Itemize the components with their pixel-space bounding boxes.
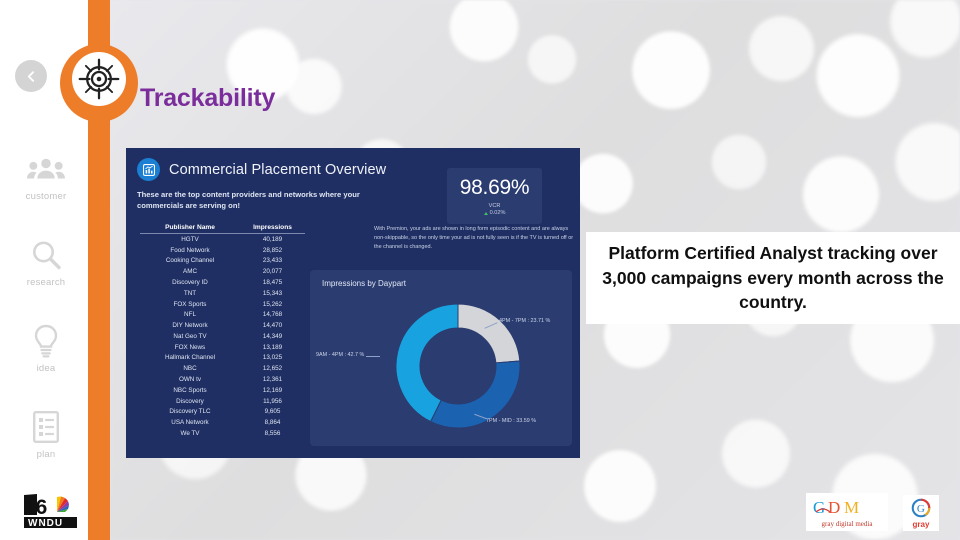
table-row: We TV8,556 — [140, 428, 305, 439]
bar-chart-icon — [137, 158, 160, 181]
column-header-impressions: Impressions — [240, 224, 305, 231]
cell-publisher: HGTV — [140, 236, 240, 243]
table-row: AMC20,077 — [140, 266, 305, 277]
cell-publisher: Nat Geo TV — [140, 333, 240, 340]
table-row: DIY Network14,470 — [140, 320, 305, 331]
page-title: Trackability — [140, 84, 275, 113]
gdm-tagline: gray digital media — [822, 520, 873, 528]
chart-label-4pm-7pm: 4PM - 7PM : 23.71 % — [499, 318, 550, 324]
brand-target-badge[interactable] — [72, 52, 126, 106]
dashboard-panel: Commercial Placement Overview These are … — [126, 148, 580, 458]
kpi-delta-value: 0.02% — [490, 210, 506, 216]
cell-publisher: DIY Network — [140, 322, 240, 329]
station-logo: 16 WNDU — [22, 492, 84, 530]
cell-publisher: Discovery TLC — [140, 408, 240, 415]
cell-publisher: USA Network — [140, 419, 240, 426]
table-row: TNT15,343 — [140, 288, 305, 299]
magnifier-icon — [30, 236, 62, 274]
table-row: NFL14,768 — [140, 309, 305, 320]
table-body: HGTV40,189Food Network28,852Cooking Chan… — [140, 234, 305, 439]
sidebar-item-plan[interactable]: plan — [0, 398, 92, 470]
donut-chart-svg — [388, 296, 528, 436]
table-row: Cooking Channel23,433 — [140, 256, 305, 267]
cell-impressions: 15,343 — [240, 290, 305, 297]
table-row: Food Network28,852 — [140, 245, 305, 256]
table-row: Discovery11,956 — [140, 396, 305, 407]
sidebar-items: customer research idea — [0, 140, 92, 484]
triangle-up-icon — [484, 212, 488, 215]
cell-publisher: Hallmark Channel — [140, 354, 240, 361]
donut-chart — [388, 296, 528, 436]
cell-impressions: 12,652 — [240, 365, 305, 372]
cell-publisher: TNT — [140, 290, 240, 297]
headline-callout: Platform Certified Analyst tracking over… — [586, 232, 960, 324]
sidebar-item-customer[interactable]: customer — [0, 140, 92, 212]
kpi-delta: 0.02% — [484, 210, 506, 216]
svg-text:D: D — [828, 498, 840, 517]
sidebar-item-idea[interactable]: idea — [0, 312, 92, 384]
table-row: Nat Geo TV14,349 — [140, 331, 305, 342]
cell-impressions: 11,956 — [240, 398, 305, 405]
cell-impressions: 40,189 — [240, 236, 305, 243]
sidebar-item-label: plan — [37, 449, 56, 460]
table-row: NBC Sports12,169 — [140, 385, 305, 396]
chart-title: Impressions by Daypart — [322, 279, 406, 288]
cell-impressions: 18,475 — [240, 279, 305, 286]
leader-line — [366, 356, 380, 357]
cell-impressions: 28,852 — [240, 247, 305, 254]
cell-impressions: 20,077 — [240, 268, 305, 275]
dashboard-title: Commercial Placement Overview — [169, 162, 386, 178]
cell-impressions: 13,189 — [240, 344, 305, 351]
checklist-icon — [32, 408, 60, 446]
svg-text:16: 16 — [24, 496, 47, 519]
cell-impressions: 8,556 — [240, 430, 305, 437]
dashboard-subtitle: These are the top content providers and … — [137, 189, 382, 212]
gray-logo: G gray — [903, 495, 939, 531]
premion-note: With Premion, your ads are shown in long… — [374, 225, 574, 252]
cell-publisher: AMC — [140, 268, 240, 275]
table-row: FOX Sports15,262 — [140, 299, 305, 310]
chevron-left-icon — [25, 70, 38, 83]
table-row: Discovery ID18,475 — [140, 277, 305, 288]
cell-publisher: We TV — [140, 430, 240, 437]
cell-publisher: Discovery — [140, 398, 240, 405]
svg-text:G: G — [813, 498, 825, 517]
wndu-logo-icon: 16 WNDU — [22, 492, 84, 530]
people-icon — [27, 150, 65, 188]
table-header-row: Publisher Name Impressions — [140, 224, 305, 234]
cell-publisher: Food Network — [140, 247, 240, 254]
table-row: OWN tv12,361 — [140, 374, 305, 385]
sidebar-item-label: idea — [37, 363, 56, 374]
table-row: Hallmark Channel13,025 — [140, 353, 305, 364]
publisher-table: Publisher Name Impressions HGTV40,189Foo… — [140, 224, 305, 439]
cell-publisher: OWN tv — [140, 376, 240, 383]
svg-text:WNDU: WNDU — [28, 518, 63, 529]
cell-publisher: FOX News — [140, 344, 240, 351]
table-row: Discovery TLC9,605 — [140, 407, 305, 418]
cell-publisher: NBC Sports — [140, 387, 240, 394]
sidebar-item-label: customer — [26, 191, 67, 202]
lightbulb-icon — [32, 322, 60, 360]
svg-text:G: G — [917, 503, 925, 515]
gdm-logo: G D M gray digital media — [806, 493, 888, 531]
cell-impressions: 12,169 — [240, 387, 305, 394]
sidebar-item-research[interactable]: research — [0, 226, 92, 298]
table-row: HGTV40,189 — [140, 234, 305, 245]
daypart-chart-card: Impressions by Daypart 4PM - 7PM : 23.71… — [310, 270, 572, 446]
cell-publisher: NFL — [140, 311, 240, 318]
cell-impressions: 14,470 — [240, 322, 305, 329]
cell-impressions: 9,605 — [240, 408, 305, 415]
donut-segment-4pm-7pm — [458, 304, 520, 363]
kpi-vcr: 98.69% VCR 0.02% — [447, 168, 542, 224]
cell-impressions: 8,864 — [240, 419, 305, 426]
target-icon — [78, 58, 120, 100]
gray-label: gray — [913, 520, 930, 529]
gdm-logo-icon: G D M — [812, 497, 882, 519]
cell-publisher: FOX Sports — [140, 301, 240, 308]
cell-impressions: 14,349 — [240, 333, 305, 340]
back-button[interactable] — [15, 60, 47, 92]
cell-impressions: 12,361 — [240, 376, 305, 383]
cell-publisher: Cooking Channel — [140, 257, 240, 264]
cell-publisher: NBC — [140, 365, 240, 372]
slide-canvas: customer research idea — [0, 0, 960, 540]
table-row: FOX News13,189 — [140, 342, 305, 353]
table-row: NBC12,652 — [140, 363, 305, 374]
cell-impressions: 13,025 — [240, 354, 305, 361]
table-row: USA Network8,864 — [140, 417, 305, 428]
kpi-label: VCR — [489, 203, 501, 209]
kpi-value: 98.69% — [460, 176, 529, 200]
cell-publisher: Discovery ID — [140, 279, 240, 286]
chart-label-7pm-mid: 7PM - MID : 33.59 % — [486, 418, 536, 424]
headline-text: Platform Certified Analyst tracking over… — [586, 241, 960, 316]
cell-impressions: 23,433 — [240, 257, 305, 264]
gray-logo-icon: G — [910, 497, 932, 519]
sidebar-item-label: research — [27, 277, 66, 288]
cell-impressions: 14,768 — [240, 311, 305, 318]
cell-impressions: 15,262 — [240, 301, 305, 308]
svg-text:M: M — [844, 498, 859, 517]
column-header-publisher: Publisher Name — [140, 224, 240, 231]
chart-label-9am-4pm: 9AM - 4PM : 42.7 % — [316, 352, 364, 358]
